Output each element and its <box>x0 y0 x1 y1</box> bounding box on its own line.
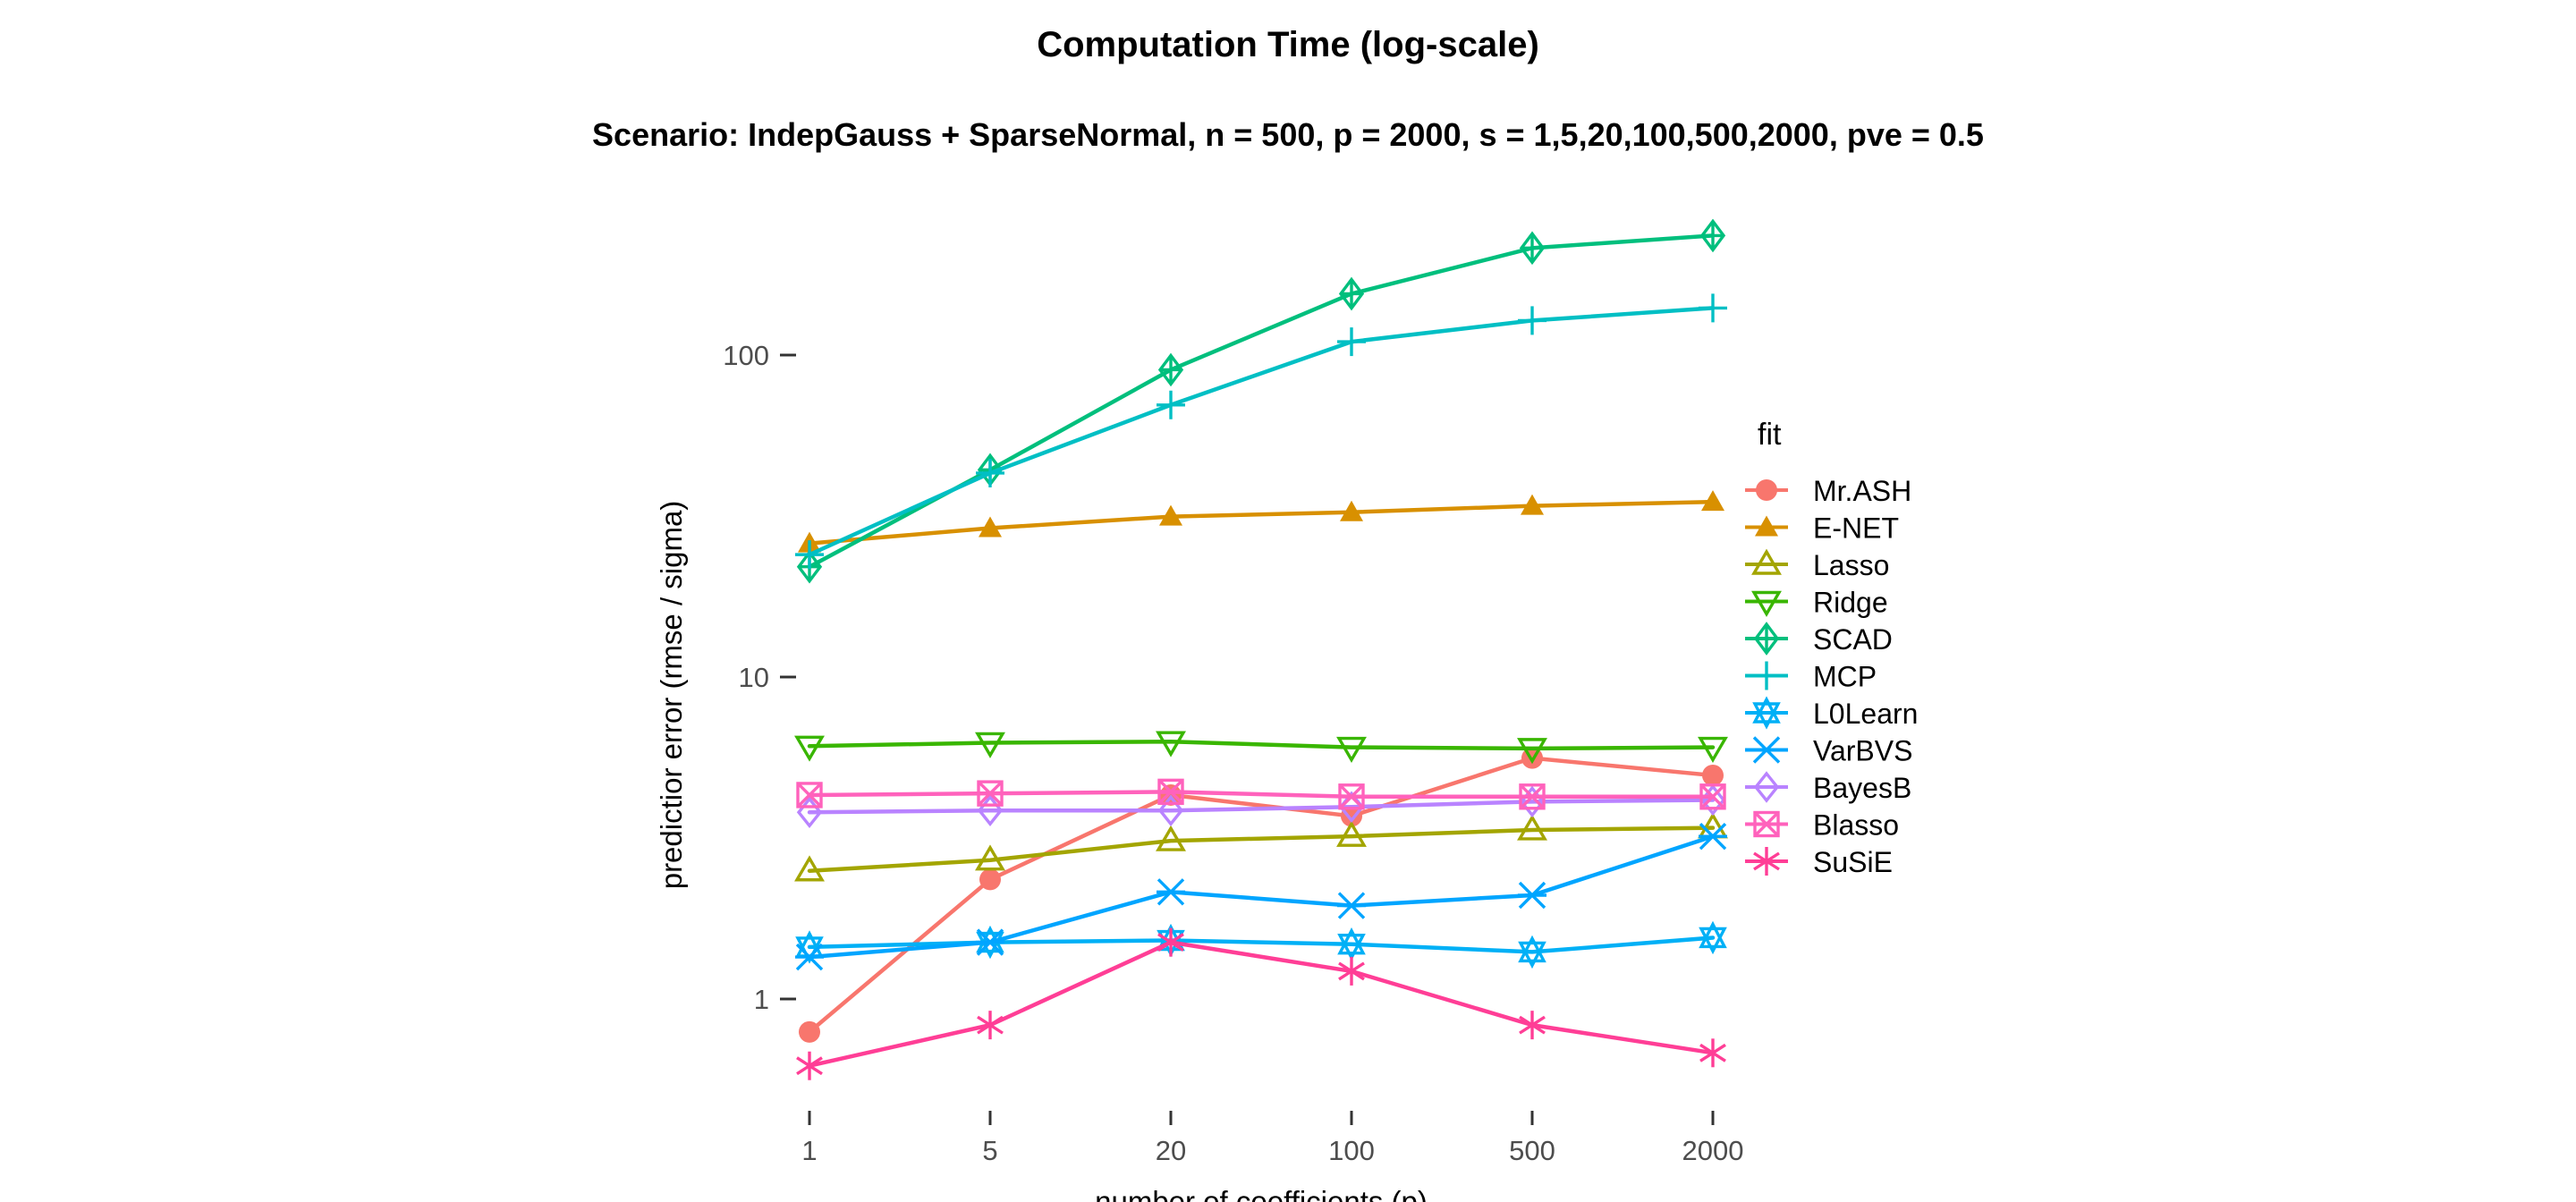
y-axis: 110100 <box>723 340 796 1015</box>
legend-item-label: Blasso <box>1813 809 1899 842</box>
data-point-marker <box>1518 883 1546 908</box>
legend-item-label: VarBVS <box>1813 735 1912 767</box>
legend-swatch-marker <box>1752 738 1781 763</box>
legend-item-label: SuSiE <box>1813 846 1893 878</box>
data-point-marker <box>1337 327 1366 356</box>
series-lasso <box>797 816 1725 880</box>
legend-item-label: Ridge <box>1813 587 1888 619</box>
legend-item-l0learn[interactable]: L0Learn <box>1745 698 1918 730</box>
chart-figure: Computation Time (log-scale) Scenario: I… <box>0 0 2576 1202</box>
x-axis: 15201005002000 <box>801 1111 1743 1166</box>
legend-swatch-marker <box>1756 479 1777 501</box>
y-tick-label: 1 <box>754 984 769 1015</box>
x-axis-title: number of coefficients (p) <box>1095 1185 1428 1202</box>
legend-item-mr-ash[interactable]: Mr.ASH <box>1745 475 1911 507</box>
legend-item-label: SCAD <box>1813 623 1893 656</box>
data-point-marker <box>1341 279 1362 308</box>
series-line <box>809 308 1713 554</box>
y-tick-label: 100 <box>723 340 769 371</box>
y-tick-label: 10 <box>739 662 769 693</box>
legend-item-blasso[interactable]: Blasso <box>1745 809 1899 842</box>
series-ridge <box>797 732 1725 761</box>
series-line <box>809 791 1713 796</box>
x-tick-label: 500 <box>1509 1135 1555 1166</box>
legend-swatch-marker <box>1756 624 1777 653</box>
data-point-marker <box>1702 221 1724 250</box>
legend-item-varbvs[interactable]: VarBVS <box>1745 735 1912 767</box>
legend-item-bayesb[interactable]: BayesB <box>1745 772 1911 804</box>
x-tick-label: 100 <box>1328 1135 1375 1166</box>
legend-item-lasso[interactable]: Lasso <box>1745 549 1889 581</box>
series-susie <box>797 928 1725 1080</box>
chart-legend: Mr.ASHE-NETLassoRidgeSCADMCPL0LearnVarBV… <box>1745 475 1918 878</box>
data-point-marker <box>1337 893 1366 918</box>
series-mr-ash <box>799 748 1724 1043</box>
legend-item-e-net[interactable]: E-NET <box>1745 512 1899 545</box>
data-point-marker <box>979 868 1001 890</box>
legend-swatch-marker <box>1752 662 1781 690</box>
legend-item-ridge[interactable]: Ridge <box>1745 587 1888 619</box>
x-tick-label: 1 <box>801 1135 817 1166</box>
series-line <box>809 235 1713 566</box>
legend-item-label: Mr.ASH <box>1813 475 1911 507</box>
legend-item-label: MCP <box>1813 661 1877 693</box>
series-line <box>809 758 1713 1032</box>
legend-item-label: Lasso <box>1813 549 1889 581</box>
x-tick-label: 20 <box>1156 1135 1186 1166</box>
x-tick-label: 2000 <box>1682 1135 1744 1166</box>
data-point-marker <box>1521 233 1543 262</box>
legend-item-mcp[interactable]: MCP <box>1745 661 1877 693</box>
series-mcp <box>795 293 1727 569</box>
series-line <box>809 943 1713 1066</box>
legend-item-susie[interactable]: SuSiE <box>1745 846 1893 878</box>
legend-title: fit <box>1758 418 1782 452</box>
legend-item-label: E-NET <box>1813 512 1899 545</box>
legend-item-label: L0Learn <box>1813 698 1918 730</box>
data-point-marker <box>1702 765 1724 786</box>
series-line <box>809 828 1713 871</box>
y-axis-title: predictior error (rmse / sigma) <box>655 501 688 890</box>
legend-item-label: BayesB <box>1813 772 1911 804</box>
data-point-marker <box>1699 293 1727 322</box>
series-line <box>809 741 1713 749</box>
series-line <box>809 836 1713 957</box>
x-tick-label: 5 <box>982 1135 997 1166</box>
legend-item-scad[interactable]: SCAD <box>1745 623 1893 656</box>
data-point-marker <box>799 1021 820 1043</box>
data-point-marker <box>1518 306 1546 334</box>
data-point-marker <box>1157 391 1185 419</box>
series-layer <box>795 221 1727 1079</box>
data-point-marker <box>1157 879 1185 904</box>
data-point-marker <box>1160 355 1182 384</box>
series-scad <box>799 221 1724 580</box>
chart-plot-area: 15201005002000 110100 Mr.ASHE-NETLassoRi… <box>0 0 2576 1202</box>
series-line <box>809 502 1713 543</box>
